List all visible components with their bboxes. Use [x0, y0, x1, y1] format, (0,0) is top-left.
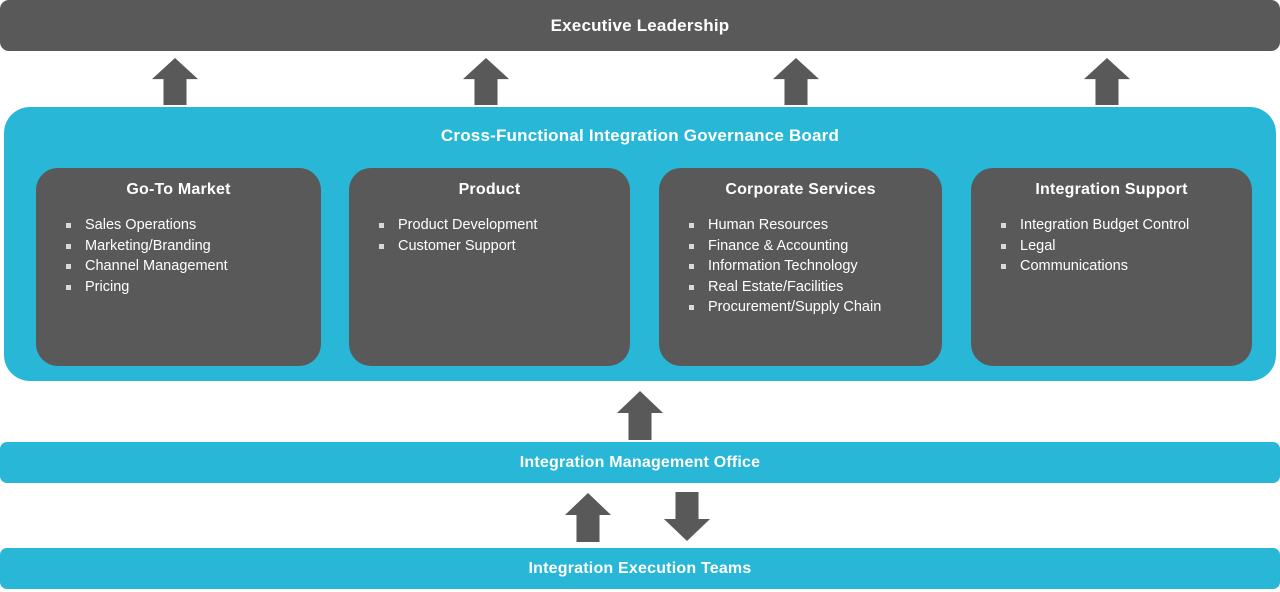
governance-card-list-item: Information Technology	[689, 256, 928, 277]
integration-management-office-bar[interactable]: Integration Management Office	[0, 442, 1280, 483]
square-bullet-icon	[689, 244, 694, 249]
integration-execution-teams-bar[interactable]: Integration Execution Teams	[0, 548, 1280, 589]
governance-card-list-item: Human Resources	[689, 215, 928, 236]
governance-card-list-item-label: Customer Support	[398, 238, 516, 254]
arrow-up-product-icon	[462, 57, 510, 105]
governance-card-list: Product DevelopmentCustomer Support	[363, 215, 616, 256]
org-governance-diagram: Executive Leadership Cross-Functional In…	[0, 0, 1280, 592]
governance-card-list-item-label: Marketing/Branding	[85, 238, 211, 254]
square-bullet-icon	[689, 223, 694, 228]
governance-cards-row: Go-To MarketSales OperationsMarketing/Br…	[4, 168, 1276, 366]
governance-card-list-item: Communications	[1001, 256, 1238, 277]
governance-board-title: Cross-Functional Integration Governance …	[4, 126, 1276, 146]
governance-card-title: Go-To Market	[50, 181, 307, 199]
square-bullet-icon	[379, 223, 384, 228]
governance-card[interactable]: Go-To MarketSales OperationsMarketing/Br…	[36, 168, 321, 366]
governance-card-list: Integration Budget ControlLegalCommunica…	[985, 215, 1238, 277]
governance-card-list-item: Integration Budget Control	[1001, 215, 1238, 236]
governance-card-list-item-label: Product Development	[398, 217, 537, 233]
arrow-up-go-to-market-icon	[151, 57, 199, 105]
square-bullet-icon	[66, 285, 71, 290]
governance-card-title: Product	[363, 181, 616, 199]
governance-card-list-item-label: Pricing	[85, 279, 129, 295]
governance-card-list-item: Channel Management	[66, 256, 307, 277]
square-bullet-icon	[689, 305, 694, 310]
governance-card-list-item: Legal	[1001, 236, 1238, 257]
square-bullet-icon	[66, 244, 71, 249]
governance-card-list-item-label: Communications	[1020, 258, 1128, 274]
square-bullet-icon	[1001, 244, 1006, 249]
square-bullet-icon	[1001, 223, 1006, 228]
integration-execution-teams-label: Integration Execution Teams	[529, 560, 752, 578]
governance-card-title: Corporate Services	[673, 181, 928, 199]
governance-card-list: Human ResourcesFinance & AccountingInfor…	[673, 215, 928, 318]
square-bullet-icon	[1001, 264, 1006, 269]
governance-card[interactable]: Integration SupportIntegration Budget Co…	[971, 168, 1252, 366]
governance-card[interactable]: Corporate ServicesHuman ResourcesFinance…	[659, 168, 942, 366]
arrow-up-corporate-services-icon	[772, 57, 820, 105]
arrow-up-integration-support-icon	[1083, 57, 1131, 105]
arrow-up-imo-to-board-icon	[616, 390, 664, 440]
governance-card-list-item-label: Integration Budget Control	[1020, 217, 1189, 233]
executive-leadership-bar[interactable]: Executive Leadership	[0, 0, 1280, 51]
governance-card-list-item-label: Legal	[1020, 238, 1055, 254]
governance-card-list-item: Finance & Accounting	[689, 236, 928, 257]
governance-card[interactable]: ProductProduct DevelopmentCustomer Suppo…	[349, 168, 630, 366]
governance-card-list-item: Real Estate/Facilities	[689, 277, 928, 298]
governance-card-list: Sales OperationsMarketing/BrandingChanne…	[50, 215, 307, 297]
governance-card-list-item: Marketing/Branding	[66, 236, 307, 257]
governance-card-list-item: Sales Operations	[66, 215, 307, 236]
square-bullet-icon	[379, 244, 384, 249]
square-bullet-icon	[66, 264, 71, 269]
square-bullet-icon	[689, 285, 694, 290]
arrow-down-imo-to-teams-icon	[663, 492, 711, 542]
governance-card-list-item-label: Real Estate/Facilities	[708, 279, 843, 295]
governance-card-list-item-label: Sales Operations	[85, 217, 196, 233]
executive-leadership-label: Executive Leadership	[551, 16, 730, 36]
governance-card-list-item-label: Information Technology	[708, 258, 858, 274]
integration-management-office-label: Integration Management Office	[520, 454, 761, 472]
governance-card-list-item-label: Finance & Accounting	[708, 238, 848, 254]
governance-card-list-item-label: Channel Management	[85, 258, 228, 274]
governance-card-list-item: Customer Support	[379, 236, 616, 257]
square-bullet-icon	[689, 264, 694, 269]
governance-card-list-item-label: Procurement/Supply Chain	[708, 299, 881, 315]
governance-card-list-item: Procurement/Supply Chain	[689, 297, 928, 318]
arrow-up-teams-to-imo-icon	[564, 492, 612, 542]
governance-board-panel: Cross-Functional Integration Governance …	[4, 107, 1276, 381]
square-bullet-icon	[66, 223, 71, 228]
governance-card-title: Integration Support	[985, 181, 1238, 199]
governance-card-list-item: Product Development	[379, 215, 616, 236]
governance-card-list-item-label: Human Resources	[708, 217, 828, 233]
governance-card-list-item: Pricing	[66, 277, 307, 298]
